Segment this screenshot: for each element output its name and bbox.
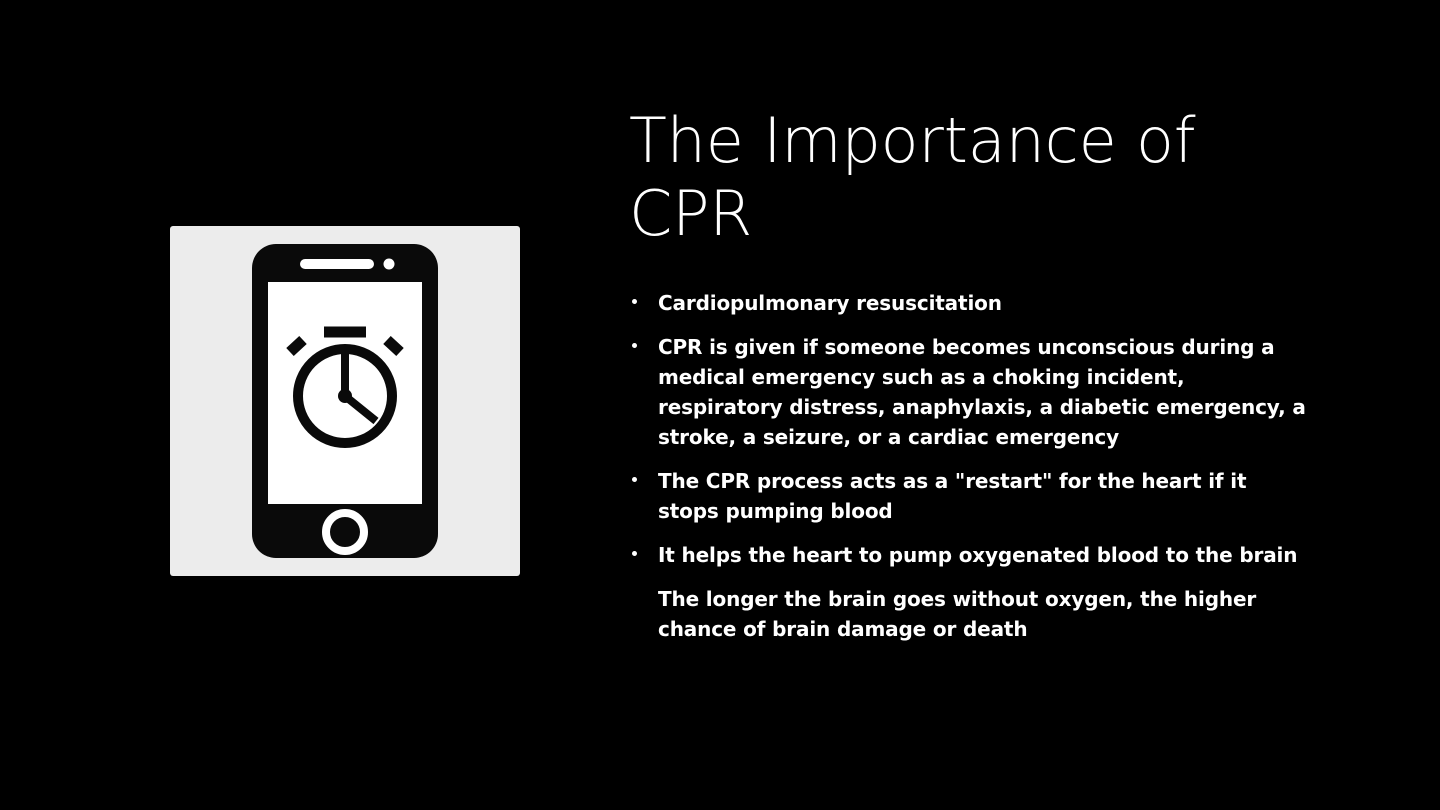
list-item-continuation: The longer the brain goes without oxygen… bbox=[629, 584, 1309, 644]
list-item: Cardiopulmonary resuscitation bbox=[629, 288, 1309, 318]
list-item: CPR is given if someone becomes unconsci… bbox=[629, 332, 1309, 452]
list-item: The CPR process acts as a "restart" for … bbox=[629, 466, 1309, 526]
list-item-text: Cardiopulmonary resuscitation bbox=[658, 288, 1309, 318]
bullet-dot-icon bbox=[632, 343, 637, 348]
slide-image-placeholder bbox=[170, 226, 520, 576]
bullet-dot-icon bbox=[632, 299, 637, 304]
slide-content: The Importance of CPR Cardiopulmonary re… bbox=[629, 104, 1309, 644]
bullet-list: Cardiopulmonary resuscitation CPR is giv… bbox=[629, 288, 1309, 644]
list-item-text: The CPR process acts as a "restart" for … bbox=[658, 466, 1309, 526]
page-title: The Importance of CPR bbox=[629, 104, 1309, 250]
list-item: It helps the heart to pump oxygenated bl… bbox=[629, 540, 1309, 570]
list-item-text: It helps the heart to pump oxygenated bl… bbox=[658, 540, 1309, 570]
bullet-dot-icon bbox=[632, 477, 637, 482]
list-item-text: The longer the brain goes without oxygen… bbox=[658, 584, 1309, 644]
smartphone-alarm-clock-icon bbox=[252, 244, 438, 558]
bullet-dot-icon bbox=[632, 551, 637, 556]
slide-canvas: The Importance of CPR Cardiopulmonary re… bbox=[0, 0, 1440, 810]
list-item-text: CPR is given if someone becomes unconsci… bbox=[658, 332, 1309, 452]
